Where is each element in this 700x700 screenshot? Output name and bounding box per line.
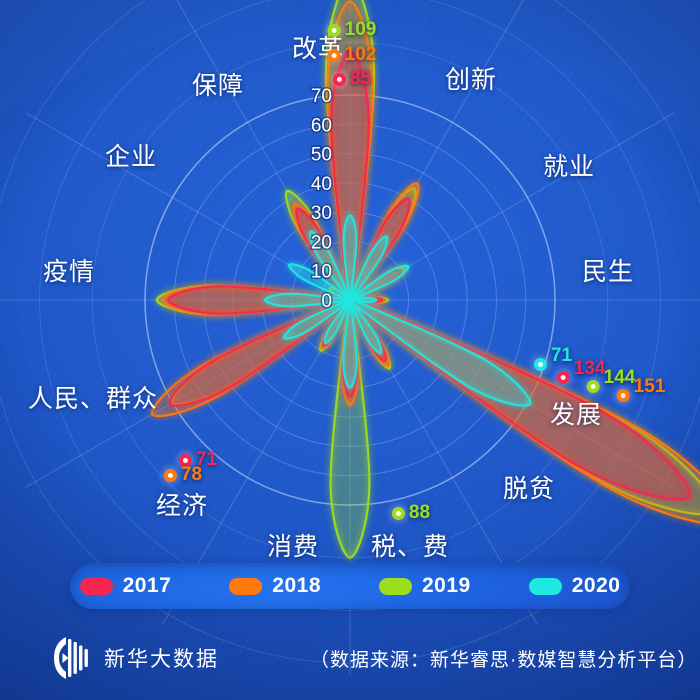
legend-label: 2017 [123, 574, 172, 598]
legend[interactable]: 2017201820192020 [70, 563, 630, 609]
value-callout-9: 88 [392, 502, 430, 524]
value-text: 102 [345, 44, 377, 66]
series-fill-2020 [265, 215, 530, 406]
axis-label-5: 脱贫 [503, 469, 555, 505]
axis-label-3: 民生 [582, 252, 634, 288]
value-text: 78 [181, 464, 202, 486]
value-text: 109 [345, 19, 377, 41]
axis-label-1: 创新 [445, 60, 497, 96]
axis-label-11: 企业 [105, 137, 157, 173]
svg-text:30: 30 [311, 203, 332, 224]
svg-text:40: 40 [311, 174, 332, 195]
data-source-note: （数据来源：新华睿思·数媒智慧分析平台） [310, 645, 697, 672]
value-text: 151 [634, 376, 666, 398]
value-callout-6: 151 [617, 376, 666, 414]
axis-label-8: 经济 [156, 486, 208, 522]
value-dot-icon [333, 73, 346, 86]
value-callout-1: 102 [328, 44, 377, 66]
axis-label-6: 税、费 [371, 527, 449, 563]
brand-name: 新华大数据 [104, 643, 219, 673]
legend-label: 2020 [572, 574, 621, 598]
value-dot-icon [328, 24, 341, 37]
infographic-root: 010203040506070 改革创新就业民生发展脱贫税、费消费经济人民、群众… [0, 0, 700, 700]
value-dot-icon [587, 380, 600, 393]
axis-label-10: 疫情 [43, 252, 95, 288]
xinhua-logo-icon [52, 635, 92, 681]
legend-swatch-icon [379, 578, 412, 595]
radial-axis-ticks: 010203040506070 [311, 86, 332, 312]
brand: 新华大数据 [52, 635, 219, 681]
svg-text:10: 10 [311, 262, 332, 283]
axis-label-9: 人民、群众 [28, 379, 158, 415]
svg-text:50: 50 [311, 145, 332, 166]
legend-swatch-icon [229, 578, 262, 595]
value-callout-0: 109 [328, 19, 377, 41]
value-dot-icon [534, 358, 547, 371]
value-dot-icon [557, 371, 570, 384]
footer: 新华大数据 （数据来源：新华睿思·数媒智慧分析平台） [0, 615, 700, 700]
value-dot-icon [328, 49, 341, 62]
svg-text:20: 20 [311, 232, 332, 253]
legend-swatch-icon [529, 578, 562, 595]
svg-text:60: 60 [311, 115, 332, 136]
svg-text:70: 70 [311, 86, 332, 107]
value-callout-2: 85 [333, 68, 371, 90]
axis-label-2: 就业 [543, 147, 595, 183]
value-text: 88 [409, 502, 430, 524]
legend-label: 2019 [422, 574, 471, 598]
value-dot-icon [392, 507, 405, 520]
value-dot-icon [164, 469, 177, 482]
axis-label-7: 消费 [267, 527, 319, 563]
value-callout-8: 78 [164, 464, 202, 486]
axis-label-12: 保障 [192, 66, 244, 102]
legend-swatch-icon [80, 578, 113, 595]
legend-item-2019[interactable]: 2019 [379, 574, 471, 598]
legend-item-2018[interactable]: 2018 [229, 574, 321, 598]
legend-label: 2018 [272, 574, 321, 598]
legend-item-2017[interactable]: 2017 [80, 574, 172, 598]
value-dot-icon [617, 389, 630, 402]
value-text: 85 [350, 68, 371, 90]
legend-item-2020[interactable]: 2020 [529, 574, 621, 598]
svg-text:0: 0 [321, 291, 332, 312]
